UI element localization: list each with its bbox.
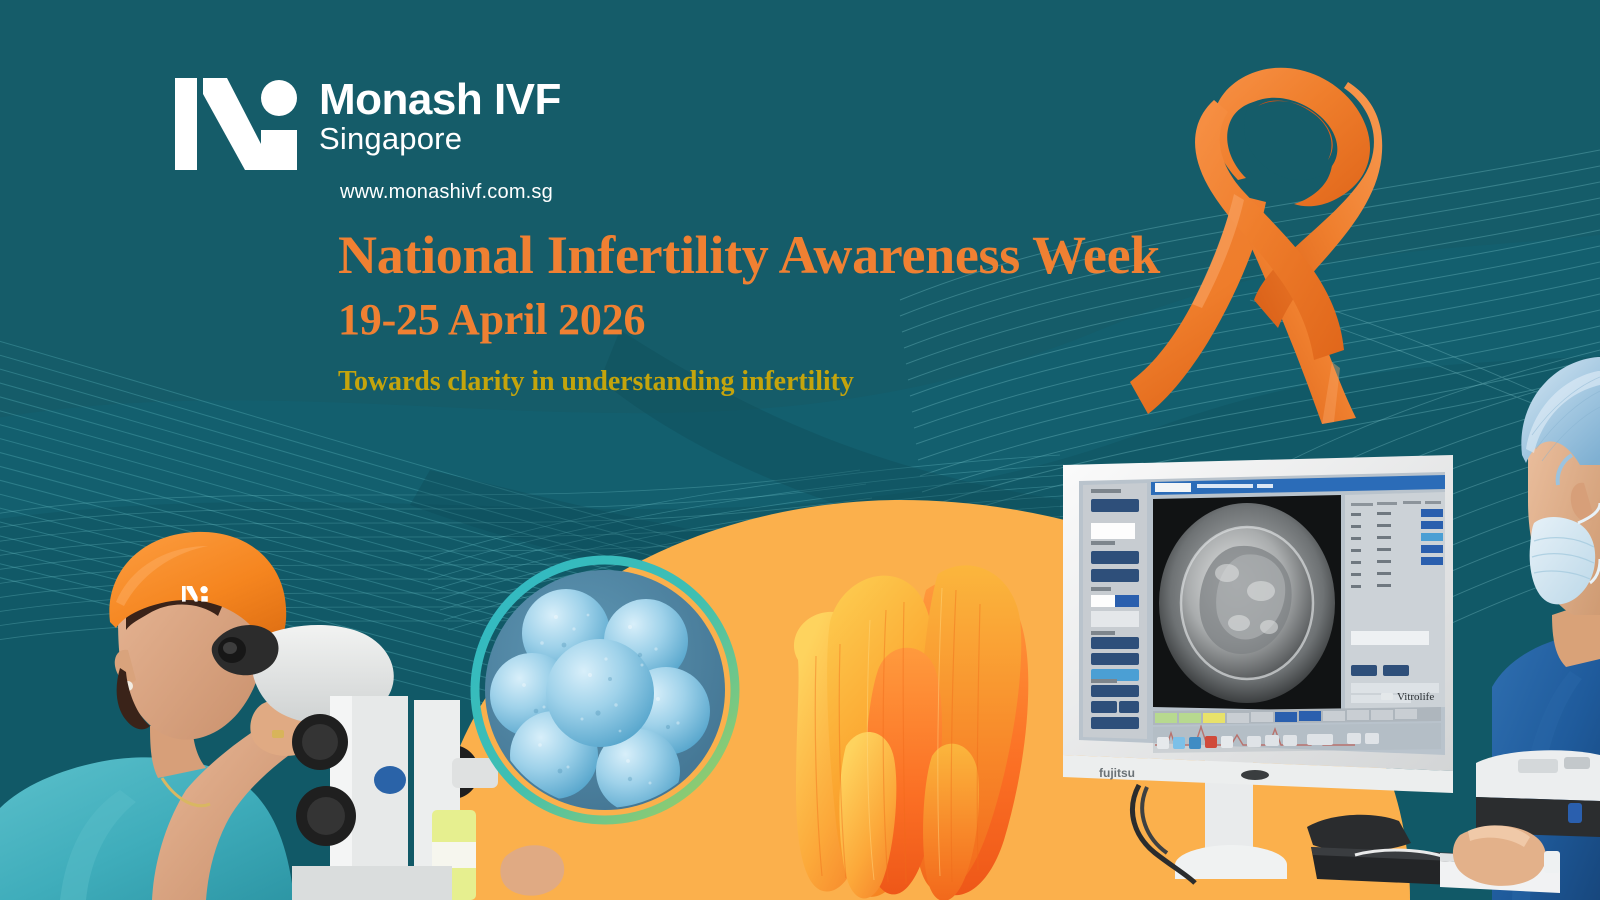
orange-crocus-flower [690, 470, 1110, 900]
campaign-dates: 19-25 April 2026 [338, 298, 1160, 342]
clinician-at-workstation [1440, 315, 1600, 900]
monitor-brand-label: fujitsu [1099, 766, 1135, 780]
campaign-tagline: Towards clarity in understanding inferti… [338, 368, 1160, 396]
brand-logo: Monash IVF Singapore www.monashivf.com.s… [175, 78, 561, 170]
software-brand-label: Vitrolife [1397, 691, 1434, 703]
monash-m-logo-icon [175, 78, 297, 170]
campaign-headline: National Infertility Awareness Week [338, 228, 1160, 282]
campaign-text-block: National Infertility Awareness Week 19-2… [338, 228, 1160, 396]
brand-website[interactable]: www.monashivf.com.sg [340, 181, 553, 204]
blastocyst-embryo-graphic [470, 555, 740, 825]
awareness-week-banner: Vitrolife fujitsu [0, 0, 1600, 900]
brand-region: Singapore [319, 121, 561, 158]
brand-name: Monash IVF [319, 78, 561, 121]
embryo-imaging-workstation: Vitrolife fujitsu [1055, 455, 1455, 900]
